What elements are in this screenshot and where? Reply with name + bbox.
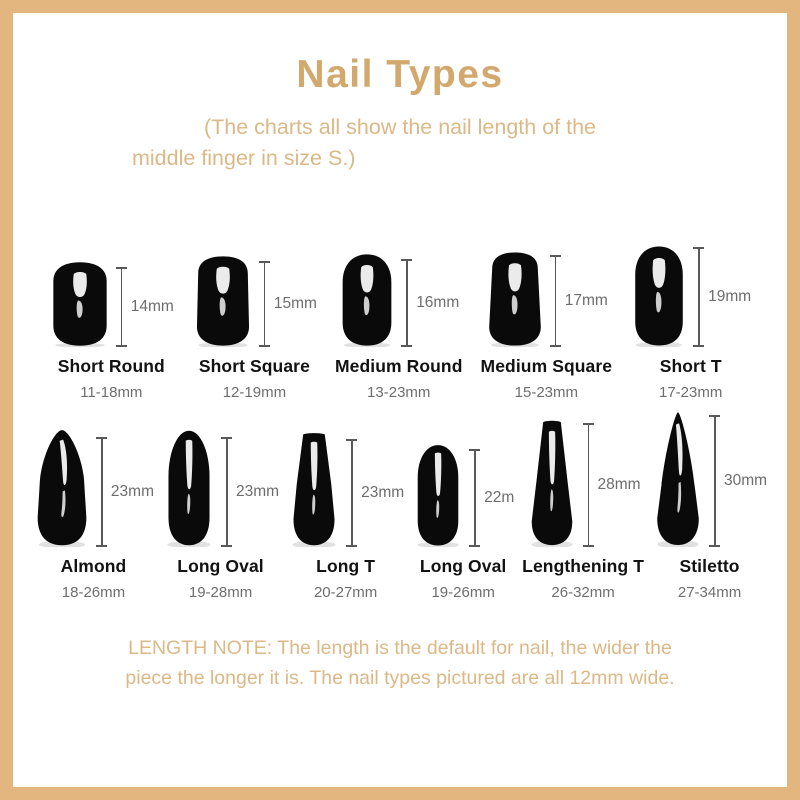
- nail-length-range: 13-23mm: [367, 384, 430, 401]
- nail-shape-long-t: [287, 431, 341, 547]
- page-title: Nail Types: [13, 55, 787, 94]
- page-subtitle: (The charts all show the nail length of …: [120, 112, 680, 173]
- measure-bar-icon: [346, 439, 357, 547]
- nail-shape-short-t: [630, 245, 688, 347]
- nail-type-card: 23mmAlmond18-26mm: [33, 429, 154, 601]
- nail-figure: 23mm: [287, 431, 404, 547]
- measure-bar-icon: [550, 255, 561, 347]
- nail-figure: 28mm: [526, 419, 641, 547]
- measure-bar-icon: [221, 437, 232, 547]
- nail-length-range: 15-23mm: [515, 384, 578, 401]
- nail-row-long-nails: 23mmAlmond18-26mm23mmLong Oval19-28mm23m…: [13, 411, 787, 601]
- measure-bar-icon: [583, 423, 594, 547]
- nail-shape-short-round: [49, 261, 111, 347]
- measurement-label: 22mm: [484, 489, 514, 507]
- nail-row-short-and-medium-nails: 14mmShort Round11-18mm15mmShort Square12…: [13, 245, 787, 401]
- measure-bar-icon: [693, 247, 704, 347]
- nail-type-name: Stiletto: [679, 556, 739, 577]
- nail-figure: 15mm: [192, 255, 317, 347]
- nail-shape-long-oval-2: [412, 443, 464, 547]
- nail-length-range: 18-26mm: [62, 584, 125, 601]
- measurement-label: 23mm: [236, 483, 279, 501]
- header: Nail Types (The charts all show the nail…: [13, 13, 787, 173]
- nail-shape-lengthening-t: [526, 419, 578, 547]
- measure-bar-icon: [96, 437, 107, 547]
- measurement-label: 14mm: [131, 298, 174, 316]
- nail-length-range: 27-34mm: [678, 584, 741, 601]
- nail-type-card: 23mmLong T20-27mm: [287, 431, 404, 601]
- poster-body: Nail Types (The charts all show the nail…: [13, 13, 787, 787]
- nail-type-card: 22mmLong Oval19-26mm: [412, 443, 514, 601]
- nail-length-range: 12-19mm: [223, 384, 286, 401]
- nail-type-card: 28mmLengthening T26-32mm: [522, 419, 644, 601]
- nail-shape-almond: [33, 429, 91, 547]
- subtitle-line-1: (The charts all show the nail length of …: [120, 112, 680, 143]
- measurement-label: 23mm: [111, 483, 154, 501]
- measurement: 14mm: [116, 267, 174, 347]
- note-line-1: LENGTH NOTE: The length is the default f…: [13, 633, 787, 663]
- measurement: 23mm: [221, 437, 279, 547]
- measurement-label: 30mm: [724, 472, 767, 490]
- nail-type-name: Medium Round: [335, 356, 463, 377]
- nail-figure: 16mm: [338, 253, 459, 347]
- length-note: LENGTH NOTE: The length is the default f…: [13, 633, 787, 693]
- nail-figure: 30mm: [652, 411, 767, 547]
- nail-type-name: Medium Square: [481, 356, 613, 377]
- note-line-2: piece the longer it is. The nail types p…: [13, 663, 787, 693]
- nail-type-card: 15mmShort Square12-19mm: [192, 255, 317, 401]
- measurement: 17mm: [550, 255, 608, 347]
- nail-type-name: Long Oval: [177, 556, 263, 577]
- measurement: 23mm: [96, 437, 154, 547]
- nail-length-range: 19-28mm: [189, 584, 252, 601]
- nail-figure: 22mm: [412, 443, 514, 547]
- nail-figure: 17mm: [485, 251, 608, 347]
- nail-type-card: 19mmShort T17-23mm: [630, 245, 751, 401]
- nail-type-name: Short Square: [199, 356, 310, 377]
- measure-bar-icon: [401, 259, 412, 347]
- measurement-label: 28mm: [598, 476, 641, 494]
- subtitle-line-2: middle finger in size S.): [120, 143, 680, 174]
- nail-type-name: Almond: [61, 556, 127, 577]
- nail-shape-medium-round: [338, 253, 396, 347]
- nail-type-card: 30mmStiletto27-34mm: [652, 411, 767, 601]
- nail-type-name: Short Round: [58, 356, 165, 377]
- nail-length-range: 19-26mm: [431, 584, 494, 601]
- nail-type-card: 23mmLong Oval19-28mm: [162, 429, 279, 601]
- nail-figure: 14mm: [49, 261, 174, 347]
- nail-shape-short-square: [192, 255, 254, 347]
- nail-type-name: Lengthening T: [522, 556, 644, 577]
- nail-figure: 23mm: [162, 429, 279, 547]
- measure-bar-icon: [259, 261, 270, 347]
- measurement-label: 23mm: [361, 484, 404, 502]
- nail-type-card: 16mmMedium Round13-23mm: [335, 253, 463, 401]
- nail-figure: 23mm: [33, 429, 154, 547]
- nail-type-name: Long T: [316, 556, 375, 577]
- nail-type-name: Long Oval: [420, 556, 506, 577]
- measurement: 28mm: [583, 423, 641, 547]
- nail-shape-long-oval: [162, 429, 216, 547]
- nail-type-card: 14mmShort Round11-18mm: [49, 261, 174, 401]
- nail-shape-medium-square: [485, 251, 545, 347]
- measurement: 16mm: [401, 259, 459, 347]
- nail-shape-stiletto: [652, 411, 704, 547]
- measurement: 19mm: [693, 247, 751, 347]
- measurement: 23mm: [346, 439, 404, 547]
- measure-bar-icon: [709, 415, 720, 547]
- measurement-label: 17mm: [565, 292, 608, 310]
- measurement: 22mm: [469, 449, 514, 547]
- nail-length-range: 17-23mm: [659, 384, 722, 401]
- measurement-label: 15mm: [274, 295, 317, 313]
- nail-length-range: 20-27mm: [314, 584, 377, 601]
- nail-length-range: 11-18mm: [80, 384, 142, 401]
- measurement: 15mm: [259, 261, 317, 347]
- measure-bar-icon: [116, 267, 127, 347]
- measurement: 30mm: [709, 415, 767, 547]
- poster-frame: Nail Types (The charts all show the nail…: [0, 0, 800, 800]
- nail-figure: 19mm: [630, 245, 751, 347]
- measurement-label: 16mm: [416, 294, 459, 312]
- measure-bar-icon: [469, 449, 480, 547]
- measurement-label: 19mm: [708, 288, 751, 306]
- nail-type-name: Short T: [660, 356, 722, 377]
- nail-type-card: 17mmMedium Square15-23mm: [481, 251, 613, 401]
- nail-length-range: 26-32mm: [551, 584, 614, 601]
